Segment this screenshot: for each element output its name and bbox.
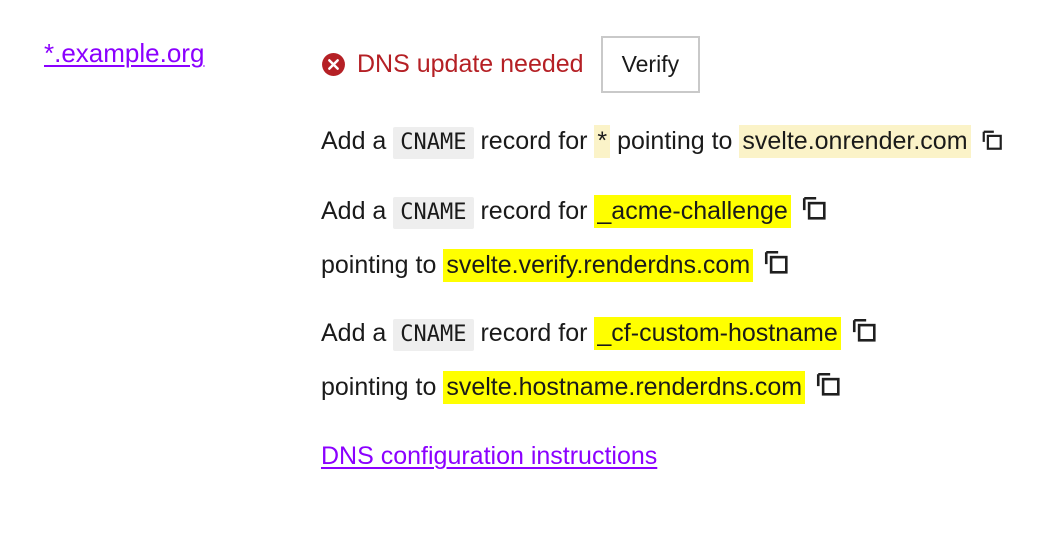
record-mid-text: record for — [474, 197, 595, 225]
record-host-value[interactable]: _cf-custom-hostname — [594, 317, 840, 350]
record-connector-text: pointing to — [321, 373, 443, 401]
record-host-value[interactable]: _acme-challenge — [594, 195, 790, 228]
copy-icon[interactable] — [815, 363, 841, 389]
error-circle-x-icon — [321, 52, 346, 77]
record-host-value[interactable]: * — [594, 125, 610, 158]
record-target-value[interactable]: svelte.hostname.renderdns.com — [443, 371, 805, 404]
record-type-chip: CNAME — [393, 197, 473, 229]
status-badge: DNS update needed — [357, 50, 584, 78]
domain-cell: *.example.org — [44, 38, 294, 68]
record-mid-text: record for — [474, 319, 595, 347]
dns-record-instruction: Add a CNAME record for _cf-custom-hostna… — [321, 307, 1021, 413]
record-target-value[interactable]: svelte.verify.renderdns.com — [443, 249, 753, 282]
copy-icon[interactable] — [801, 187, 827, 213]
dns-detail-cell: DNS update needed Verify Add a CNAME rec… — [321, 28, 1041, 471]
record-type-chip: CNAME — [393, 319, 473, 351]
record-mid-text: record for — [474, 127, 595, 155]
dns-record-instruction: Add a CNAME record for * pointing to sve… — [321, 115, 1021, 169]
domain-detail-row: *.example.org DNS update needed Verify A… — [0, 0, 1062, 552]
copy-icon[interactable] — [981, 117, 1003, 139]
dns-configuration-instructions-link[interactable]: DNS configuration instructions — [321, 441, 657, 471]
record-connector-text: pointing to — [610, 127, 739, 155]
record-target-value[interactable]: svelte.onrender.com — [739, 125, 970, 158]
record-connector-text: pointing to — [321, 251, 443, 279]
record-lead-text: Add a — [321, 197, 393, 225]
domain-name-link[interactable]: *.example.org — [44, 38, 204, 68]
dns-records-list: Add a CNAME record for * pointing to sve… — [321, 115, 1041, 471]
dns-status-row: DNS update needed Verify — [321, 28, 1041, 100]
dns-record-instruction: Add a CNAME record for _acme-challenge p… — [321, 185, 1021, 291]
copy-icon[interactable] — [851, 309, 877, 335]
verify-button[interactable]: Verify — [601, 36, 701, 93]
record-type-chip: CNAME — [393, 127, 473, 159]
record-lead-text: Add a — [321, 319, 393, 347]
record-lead-text: Add a — [321, 127, 393, 155]
copy-icon[interactable] — [763, 241, 789, 267]
dns-status-group: DNS update needed — [321, 28, 584, 100]
